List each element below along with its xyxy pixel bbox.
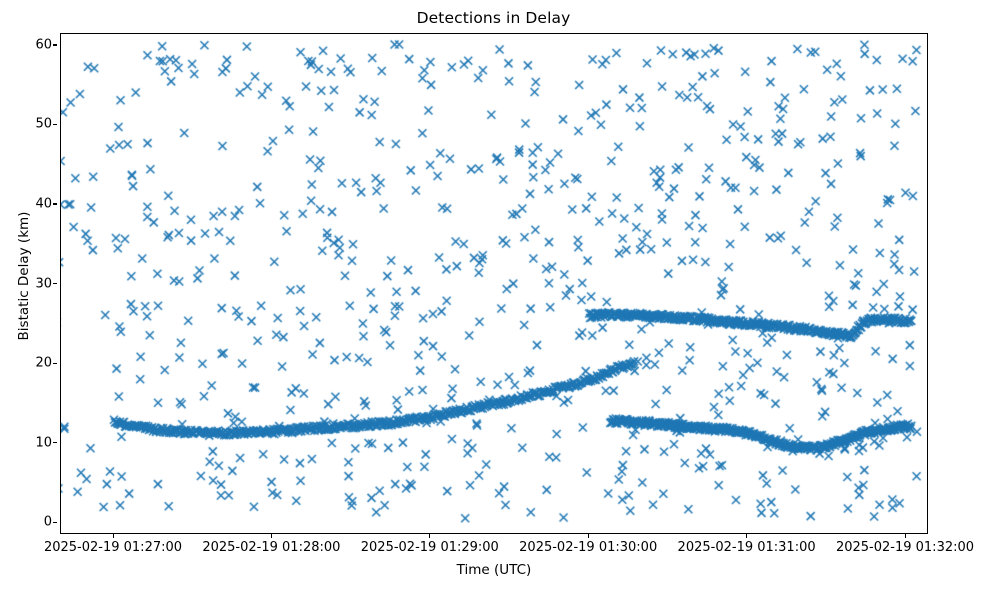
x-tick-mark [113,534,114,538]
x-axis-tick-labels: 2025-02-19 01:27:002025-02-19 01:28:0020… [0,0,987,590]
x-tick-label: 2025-02-19 01:32:00 [836,540,974,555]
y-axis-label: Bistatic Delay (km) [16,126,32,426]
x-tick-mark [746,534,747,538]
x-tick-label: 2025-02-19 01:29:00 [361,540,499,555]
x-tick-label: 2025-02-19 01:28:00 [202,540,340,555]
matplotlib-figure: Detections in Delay 0102030405060 2025-0… [0,0,987,590]
x-tick-label: 2025-02-19 01:30:00 [519,540,657,555]
x-tick-label: 2025-02-19 01:27:00 [44,540,182,555]
x-tick-mark [905,534,906,538]
x-tick-mark [271,534,272,538]
x-tick-label: 2025-02-19 01:31:00 [678,540,816,555]
x-axis-label: Time (UTC) [60,562,928,578]
x-tick-mark [588,534,589,538]
x-tick-mark [429,534,430,538]
